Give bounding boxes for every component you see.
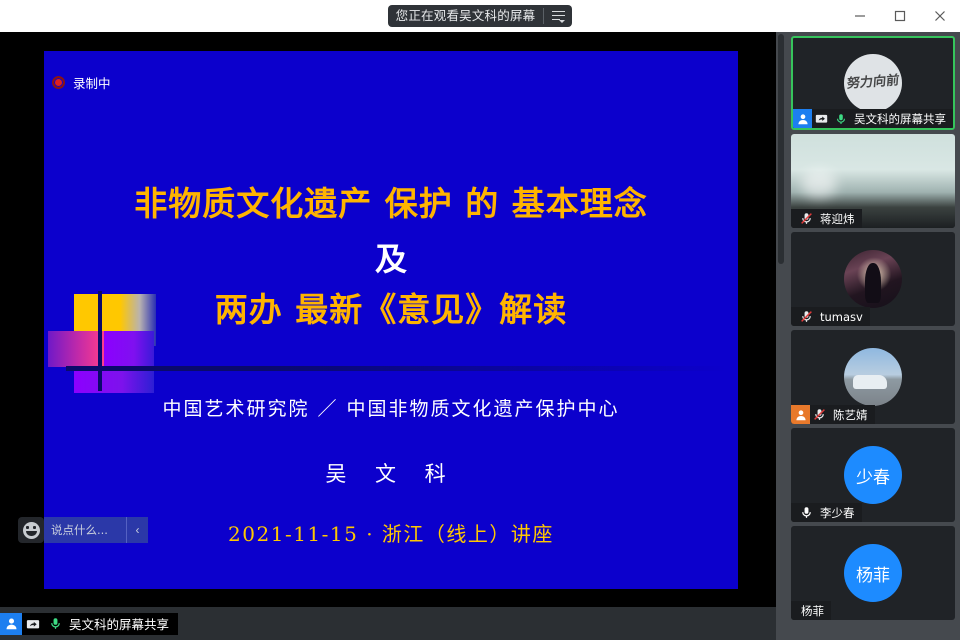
avatar: 少春 — [844, 446, 902, 504]
participant-tile[interactable]: 努力向前 吴文科的屏幕共享 — [791, 36, 955, 130]
participant-tile[interactable]: 少春 李少春 — [791, 428, 955, 522]
hamburger-menu-icon[interactable] — [544, 5, 572, 27]
shared-screen-viewport[interactable]: 非物质文化遗产 保护 的 基本理念 及 两办 最新《意见》解读 中国艺术研究院 … — [0, 32, 776, 607]
person-icon — [791, 405, 810, 424]
active-speaker-chip: 吴文科的屏幕共享 — [0, 613, 178, 635]
participant-name: 吴文科的屏幕共享 — [854, 111, 946, 127]
avatar-calligraphy-top: 努力向前 — [846, 74, 899, 91]
tile-label-bar: 陈艺婧 — [791, 405, 875, 424]
avatar — [844, 250, 902, 308]
vertical-scrollbar[interactable] — [776, 32, 786, 640]
microphone-muted-icon — [810, 405, 829, 424]
smiley-face-icon[interactable] — [18, 517, 44, 543]
avatar: 杨菲 — [844, 544, 902, 602]
slide-speaker: 吴 文 科 — [44, 458, 738, 488]
participant-tile[interactable]: 杨菲 杨菲 — [791, 526, 955, 620]
active-speaker-name: 吴文科的屏幕共享 — [69, 614, 169, 633]
slide-organization: 中国艺术研究院 ／ 中国非物质文化遗产保护中心 — [44, 394, 738, 421]
screen-share-banner-text: 您正在观看吴文科的屏幕 — [396, 5, 536, 27]
screen-share-icon — [22, 613, 44, 635]
avatar — [844, 348, 902, 406]
window-titlebar: 您正在观看吴文科的屏幕 — [0, 0, 960, 32]
slide-title-line-3: 两办 最新《意见》解读 — [44, 283, 738, 331]
participant-name: 杨菲 — [801, 603, 824, 619]
microphone-icon — [797, 503, 816, 522]
participant-name: 陈艺婧 — [833, 407, 868, 423]
tile-label-bar: 李少春 — [791, 503, 862, 522]
tile-label-bar: 蒋迎炜 — [791, 209, 862, 228]
microphone-muted-icon — [797, 307, 816, 326]
participant-name: 李少春 — [820, 505, 855, 521]
minimize-icon[interactable] — [840, 0, 880, 32]
slide-title-line-1: 非物质文化遗产 保护 的 基本理念 — [44, 177, 738, 225]
chat-input[interactable] — [44, 517, 126, 543]
microphone-icon — [44, 613, 66, 635]
slide-date-venue: 2021-11-15 · 浙江（线上）讲座 — [44, 518, 738, 547]
participant-tile[interactable]: 蒋迎炜 — [791, 134, 955, 228]
recording-indicator: 录制中 — [44, 73, 111, 92]
maximize-icon[interactable] — [880, 0, 920, 32]
person-icon — [793, 109, 812, 128]
participant-tile[interactable]: tumasv — [791, 232, 955, 326]
participant-name: tumasv — [820, 310, 863, 324]
tile-label-bar: 吴文科的屏幕共享 — [793, 109, 953, 128]
presentation-slide: 非物质文化遗产 保护 的 基本理念 及 两办 最新《意见》解读 中国艺术研究院 … — [44, 51, 738, 589]
microphone-icon — [831, 109, 850, 128]
person-icon — [0, 613, 22, 635]
bottom-status-bar: 吴文科的屏幕共享 — [0, 607, 776, 640]
main-stage: 非物质文化遗产 保护 的 基本理念 及 两办 最新《意见》解读 中国艺术研究院 … — [0, 32, 776, 640]
scrollbar-thumb[interactable] — [778, 34, 784, 264]
window-controls — [840, 0, 960, 32]
chat-collapse-chevron-icon[interactable]: ‹ — [126, 517, 148, 543]
recording-dot-icon — [52, 76, 65, 89]
chat-composer: ‹ — [18, 517, 148, 543]
screen-share-icon — [812, 109, 831, 128]
screen-share-banner: 您正在观看吴文科的屏幕 — [388, 5, 573, 27]
slide-text-block: 非物质文化遗产 保护 的 基本理念 及 两办 最新《意见》解读 中国艺术研究院 … — [44, 51, 738, 589]
recording-label: 录制中 — [73, 73, 111, 92]
tile-label-bar: tumasv — [791, 307, 870, 326]
participant-sidebar: 努力向前 吴文科的屏幕共享 蒋迎炜 — [786, 32, 960, 640]
participant-name: 蒋迎炜 — [820, 211, 855, 227]
avatar: 努力向前 — [844, 54, 902, 112]
tile-label-bar: 杨菲 — [791, 601, 831, 620]
participant-tile[interactable]: 陈艺婧 — [791, 330, 955, 424]
close-icon[interactable] — [920, 0, 960, 32]
slide-title-line-2: 及 — [44, 234, 738, 280]
microphone-muted-icon — [797, 209, 816, 228]
